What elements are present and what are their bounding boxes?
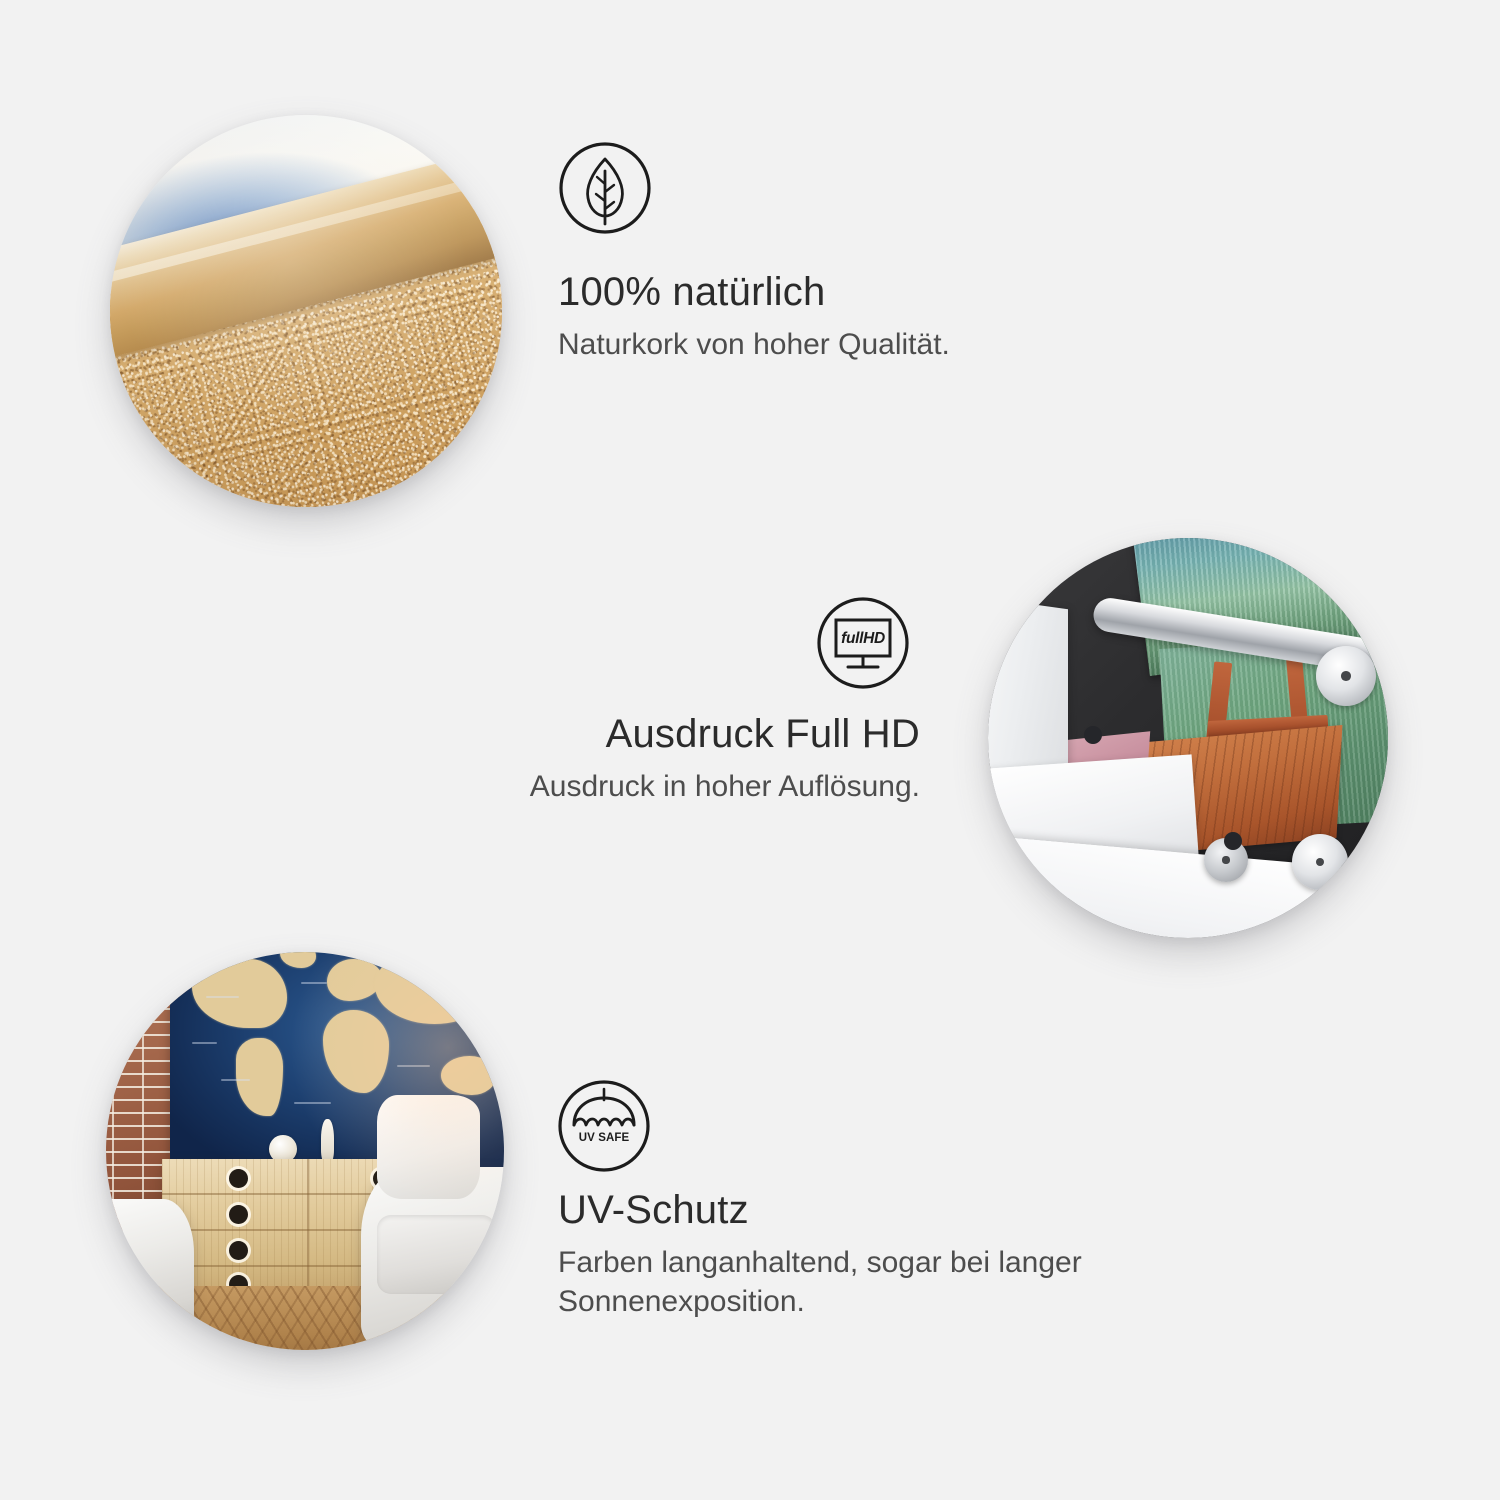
feature-text-fullhd: Ausdruck Full HD Ausdruck in hoher Auflö…	[300, 712, 920, 806]
monitor-fullhd-icon: fullHD	[815, 595, 911, 691]
feature-title-uv: UV-Schutz	[558, 1188, 1218, 1233]
feature-description-uv: Farben langanhaltend, sogar bei langer S…	[558, 1243, 1218, 1322]
feature-text-natural: 100% natürlich Naturkork von hoher Quali…	[558, 270, 1198, 364]
uv-safe-icon-label: UV SAFE	[579, 1132, 630, 1144]
feature-title-fullhd: Ausdruck Full HD	[300, 712, 920, 757]
living-room-world-map-mural-photo	[106, 952, 504, 1350]
feature-text-uv: UV-Schutz Farben langanhaltend, sogar be…	[558, 1188, 1218, 1322]
large-format-printer-photo	[988, 538, 1388, 938]
fullhd-icon-label: fullHD	[841, 630, 885, 647]
leaf-icon	[557, 140, 653, 236]
infographic-stage: 100% natürlich Naturkork von hoher Quali…	[0, 0, 1500, 1500]
cork-board-closeup-photo	[110, 115, 502, 507]
umbrella-uv-safe-icon: UV SAFE	[556, 1078, 652, 1174]
feature-title-natural: 100% natürlich	[558, 270, 1198, 315]
feature-description-fullhd: Ausdruck in hoher Auflösung.	[300, 767, 920, 807]
feature-description-natural: Naturkork von hoher Qualität.	[558, 325, 1198, 365]
